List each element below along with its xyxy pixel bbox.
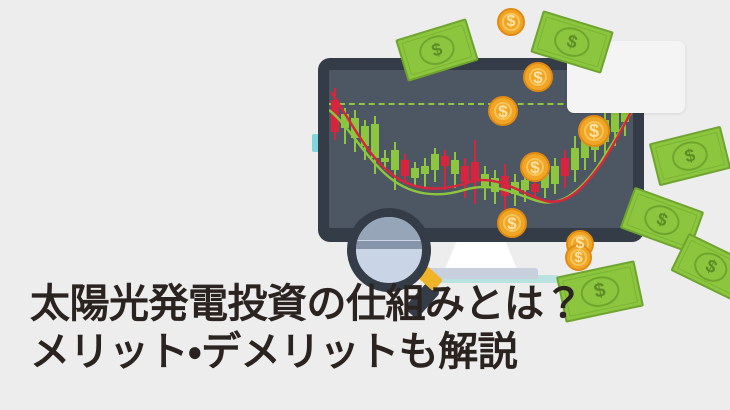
dollar-sign-icon: $: [669, 138, 711, 175]
magnifier-glare2-icon: [354, 241, 424, 249]
coin-dollar-glyph: $: [530, 159, 539, 176]
dollar-sign-icon: $: [550, 23, 593, 61]
coin-dollar-glyph: $: [507, 14, 516, 30]
coin-dollar-glyph: $: [507, 215, 516, 232]
page-title: 太陽光発電投資の仕組みとは？ メリット・デメリットも解説: [30, 284, 583, 372]
dollar-coin-icon: $: [565, 244, 592, 271]
coin-dollar-glyph: $: [574, 250, 582, 265]
coin-dollar-glyph: $: [589, 122, 599, 140]
page-title-line-2: メリット・デメリットも解説: [30, 332, 583, 372]
dollar-coin-icon: $: [497, 8, 525, 36]
dollar-sign-icon: $: [578, 272, 622, 310]
dollar-sign-icon: $: [690, 247, 730, 287]
dollar-sign-icon: $: [640, 200, 684, 239]
monitor-stand-base: [424, 268, 538, 279]
dollar-coin-icon: $: [523, 62, 553, 92]
magnifier-glare-icon: [354, 215, 424, 240]
magnifier-lens: [347, 208, 431, 292]
money-bill: $: [649, 126, 730, 187]
coin-dollar-glyph: $: [533, 69, 542, 86]
dollar-coin-icon: $: [488, 96, 518, 126]
dollar-coin-icon: $: [497, 208, 527, 238]
dollar-coin-icon: $: [578, 115, 610, 147]
dollar-sign-icon: $: [415, 31, 458, 69]
banner-canvas: $$$$$$ $$$$$$$$ 太陽光発電投資の仕組みとは？ メリット・デメリッ…: [0, 0, 730, 410]
coin-dollar-glyph: $: [498, 103, 507, 120]
dollar-coin-icon: $: [520, 152, 550, 182]
page-title-line-1: 太陽光発電投資の仕組みとは？: [30, 284, 583, 324]
